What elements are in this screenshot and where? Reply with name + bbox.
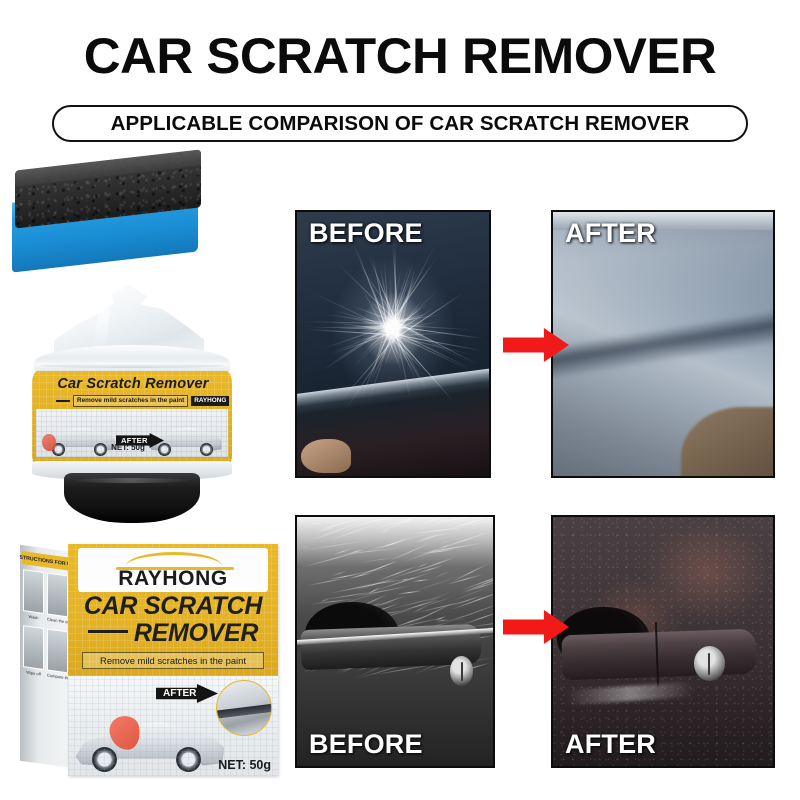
before-label: BEFORE xyxy=(309,729,423,760)
lock-cylinder xyxy=(694,646,725,681)
subtitle-banner: APPLICABLE COMPARISON OF CAR SCRATCH REM… xyxy=(52,105,748,142)
jar-cap-highlight xyxy=(72,478,190,483)
instruction-caption: Wash xyxy=(23,613,44,621)
product-box: INSTRUCTIONS FOR USE Wash Clean the coat… xyxy=(20,544,278,776)
instruction-caption: Clean the coat xyxy=(47,616,68,624)
applicator-sponge xyxy=(12,158,204,270)
comparison-after-handle: AFTER xyxy=(551,515,775,768)
instruction-photo xyxy=(23,569,44,614)
instruction-photo xyxy=(23,625,44,670)
hand-applying-product xyxy=(107,713,143,752)
box-tagline-text: Remove mild scratches in the paint xyxy=(100,655,246,666)
title-lead-rule xyxy=(88,630,128,633)
box-title-line1: CAR SCRATCH xyxy=(68,594,278,619)
box-brand-name: RAYHONG xyxy=(118,568,228,589)
before-label: BEFORE xyxy=(309,218,423,249)
jar-tagline: Remove mild scratches in the paint xyxy=(73,395,188,407)
door-handle xyxy=(561,628,756,680)
jar-label-subrow: Remove mild scratches in the paint RAYHO… xyxy=(56,395,229,407)
box-side-panel: INSTRUCTIONS FOR USE Wash Clean the coat… xyxy=(20,545,72,768)
box-car-silhouette xyxy=(74,714,224,770)
after-label: AFTER xyxy=(565,218,656,249)
box-title-line2: REMOVER xyxy=(134,619,258,647)
box-tagline-box: Remove mild scratches in the paint xyxy=(82,652,264,669)
comparison-before-handle: BEFORE xyxy=(295,515,495,768)
product-marketing-image: CAR SCRATCH REMOVER APPLICABLE COMPARISO… xyxy=(0,0,800,800)
instruction-caption: Wipe off xyxy=(23,669,44,677)
box-front-photo: AFTER NET: 50g xyxy=(68,676,278,776)
jar-net-weight: NET: 50g xyxy=(32,443,224,452)
box-side-header-text: INSTRUCTIONS FOR USE xyxy=(20,553,72,568)
instruction-caption: Compare the effect xyxy=(47,672,68,680)
hand-in-photo xyxy=(301,439,351,473)
box-front-panel: RAYHONG CAR SCRATCH REMOVER Remove mild … xyxy=(68,544,278,776)
product-jar: Car Scratch Remover Remove mild scratche… xyxy=(26,285,236,500)
jar-rim-line xyxy=(40,363,224,368)
subtitle-text: APPLICABLE COMPARISON OF CAR SCRATCH REM… xyxy=(111,112,690,136)
box-net-weight: NET: 50g xyxy=(218,758,271,772)
dash-rule xyxy=(56,400,70,402)
jar-label: Car Scratch Remover Remove mild scratche… xyxy=(32,371,232,467)
box-title-line2-wrap: REMOVER xyxy=(68,621,278,646)
jar-label-title: Car Scratch Remover xyxy=(42,376,224,392)
page-title: CAR SCRATCH REMOVER xyxy=(0,30,800,83)
after-label: AFTER xyxy=(565,729,656,760)
car-wheel xyxy=(92,747,117,772)
instruction-photo xyxy=(47,628,68,673)
jar-brand: RAYHONG xyxy=(191,396,229,406)
car-wheel xyxy=(176,747,201,772)
comparison-after-hood: AFTER xyxy=(551,210,775,478)
comparison-before-hood: BEFORE xyxy=(295,210,491,478)
box-brand-plate: RAYHONG xyxy=(78,548,268,592)
box-inset-photo xyxy=(216,680,272,736)
box-after-label: AFTER xyxy=(163,688,196,699)
box-after-arrow: AFTER xyxy=(156,684,218,703)
box-side-header: INSTRUCTIONS FOR USE xyxy=(22,551,70,571)
instruction-photo xyxy=(47,572,68,617)
